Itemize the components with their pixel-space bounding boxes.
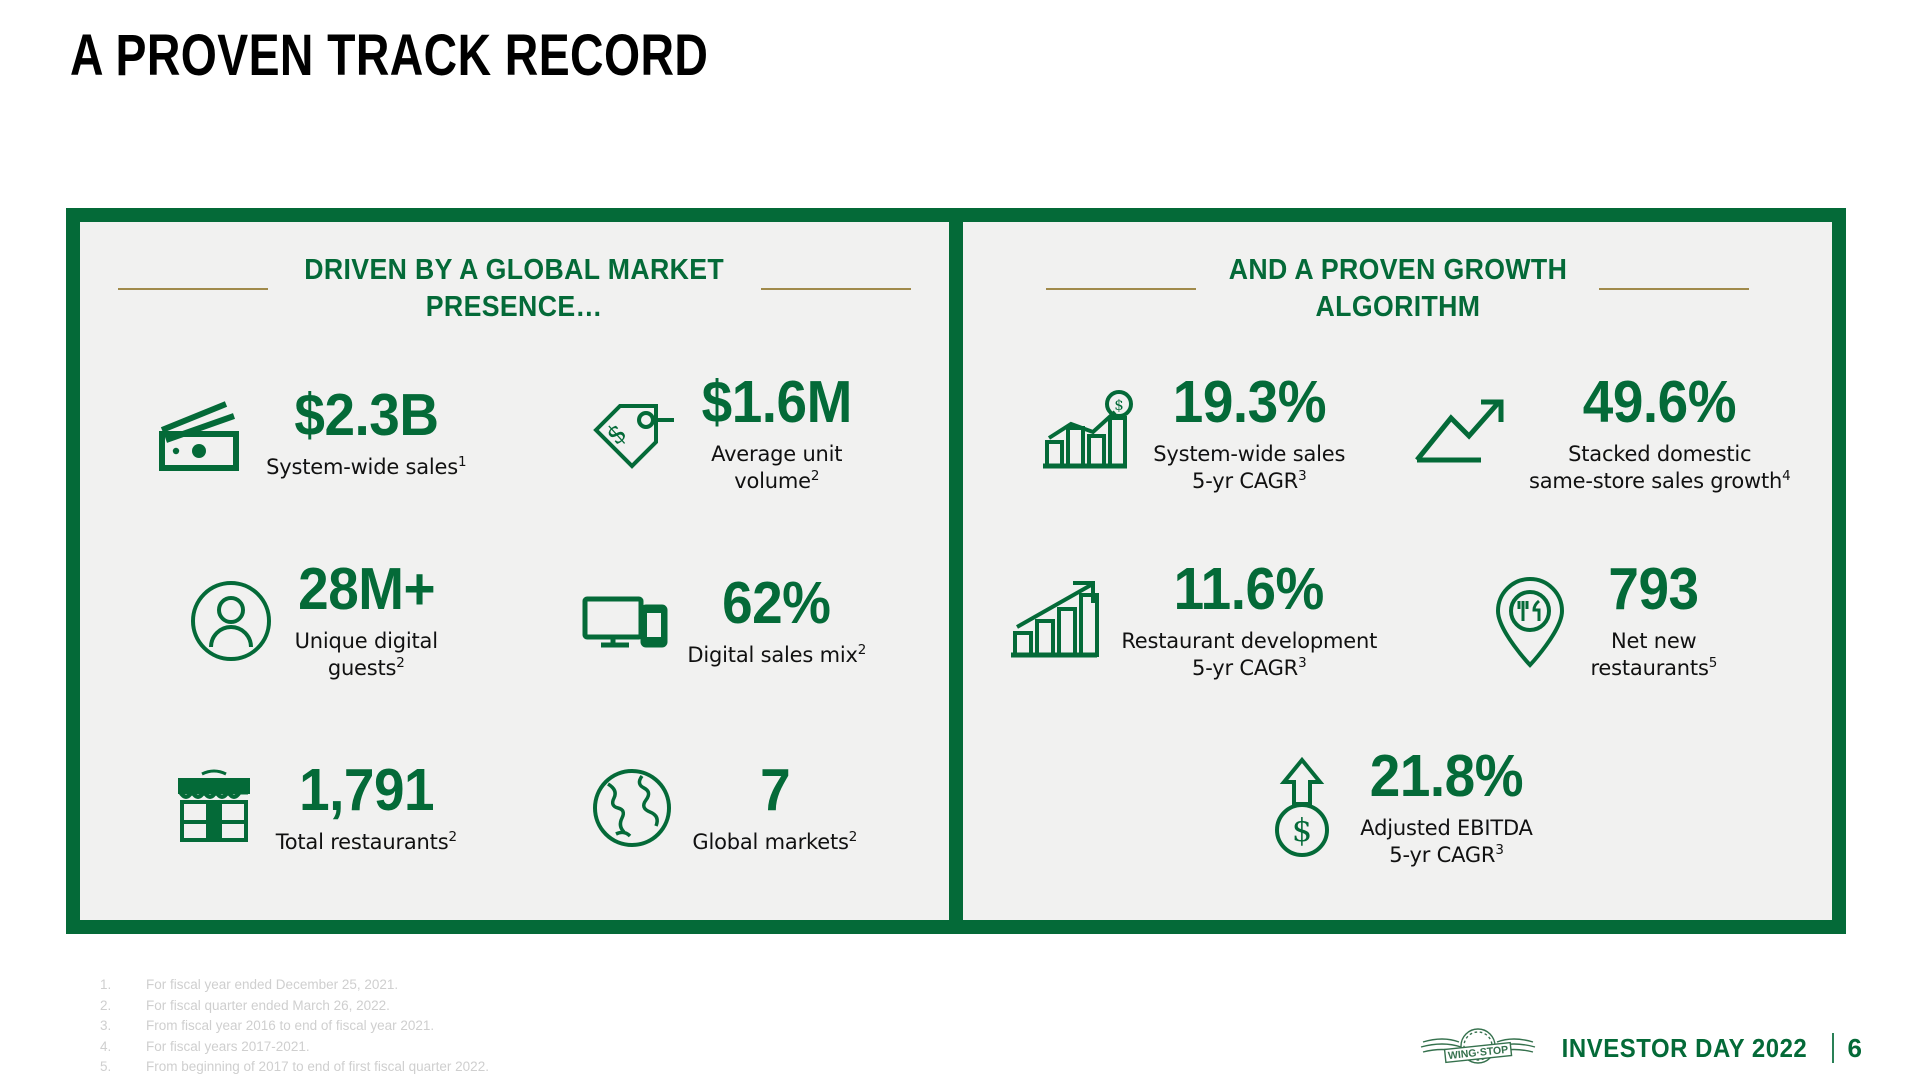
left-panel: DRIVEN BY A GLOBAL MARKET PRESENCE… (80, 222, 949, 920)
metric-label: Net new restaurants5 (1590, 628, 1717, 682)
trend-arrow-up-icon (1411, 394, 1515, 474)
metric-value: 21.8% (1370, 747, 1523, 806)
footnotes-list: 1. For fiscal year ended December 25, 20… (100, 975, 489, 1078)
metric-label: Total restaurants2 (276, 829, 457, 856)
footnote-text: For fiscal years 2017-2021. (146, 1037, 310, 1058)
metric-value: 62% (723, 574, 831, 633)
wingstop-logo-icon: WING·STOP (1419, 1022, 1537, 1074)
location-pin-food-icon (1484, 573, 1576, 669)
metric-value: $1.6M (702, 373, 852, 432)
metric: $1.6M Average unit volume2 (696, 373, 857, 495)
content-frame: DRIVEN BY A GLOBAL MARKET PRESENCE… (66, 208, 1846, 934)
right-panel-header: AND A PROVEN GROWTH ALGORITHM (963, 252, 1832, 326)
left-metrics-grid: $2.3B System-wide sales1 $ (80, 340, 949, 902)
bar-chart-growth-icon (1003, 577, 1107, 665)
metric-value: 19.3% (1173, 373, 1326, 432)
metric-label: System-wide sales1 (266, 454, 466, 481)
metric: 7 Global markets2 (692, 761, 857, 856)
gold-rule-right (761, 288, 911, 290)
footnote-item: 1. For fiscal year ended December 25, 20… (100, 975, 489, 996)
footnote-item: 2. For fiscal quarter ended March 26, 20… (100, 996, 489, 1017)
metric-label: Global markets2 (692, 829, 857, 856)
footnote-item: 5. From beginning of 2017 to end of firs… (100, 1057, 489, 1078)
footnote-number: 3. (100, 1016, 146, 1037)
devices-digital-icon (577, 581, 673, 661)
metric-value: $2.3B (294, 386, 438, 445)
right-metrics-grid: $ 19.3% System-wide sales 5-yr CAGR3 (963, 340, 1832, 902)
metric: 1,791 Total restaurants2 (276, 761, 457, 856)
metric: $2.3B System-wide sales1 (266, 386, 466, 481)
metric-label: Restaurant development 5-yr CAGR3 (1121, 628, 1377, 682)
footnote-item: 3. From fiscal year 2016 to end of fisca… (100, 1016, 489, 1037)
footnote-text: From beginning of 2017 to end of first f… (146, 1057, 489, 1078)
metric: 28M+ Unique digital guests2 (293, 560, 440, 682)
footnote-number: 2. (100, 996, 146, 1017)
svg-text:$: $ (1292, 811, 1312, 849)
metric-label: Stacked domestic same-store sales growth… (1529, 441, 1791, 495)
metric-cell: 49.6% Stacked domestic same-store sales … (1396, 340, 1807, 527)
footnote-number: 5. (100, 1057, 146, 1078)
globe-icon (586, 764, 678, 852)
gold-rule-left (1046, 288, 1196, 290)
storefront-icon (166, 766, 262, 850)
metric-cell: 11.6% Restaurant development 5-yr CAGR3 (985, 527, 1396, 714)
metric-label: Average unit volume2 (711, 441, 842, 495)
metric-value: 11.6% (1174, 560, 1324, 619)
metric: 21.8% Adjusted EBITDA 5-yr CAGR3 (1360, 747, 1532, 869)
metric-label: System-wide sales 5-yr CAGR3 (1153, 441, 1345, 495)
footnote-number: 1. (100, 975, 146, 996)
footnote-text: From fiscal year 2016 to end of fiscal y… (146, 1016, 434, 1037)
metric-value: 7 (760, 761, 790, 820)
metric-cell: $ 19.3% System-wide sales 5-yr CAGR3 (985, 340, 1396, 527)
metric: 49.6% Stacked domestic same-store sales … (1529, 373, 1791, 495)
metric-cell: 28M+ Unique digital guests2 (106, 527, 517, 714)
left-panel-header: DRIVEN BY A GLOBAL MARKET PRESENCE… (80, 252, 949, 326)
metric-label: Adjusted EBITDA 5-yr CAGR3 (1360, 815, 1532, 869)
svg-text:$: $ (1115, 396, 1125, 414)
user-profile-icon (183, 577, 279, 665)
metric: 62% Digital sales mix2 (687, 574, 866, 669)
footer-event-label: INVESTOR DAY 2022 (1561, 1033, 1807, 1064)
gold-rule-left (118, 288, 268, 290)
left-panel-title: DRIVEN BY A GLOBAL MARKET PRESENCE… (305, 252, 725, 326)
metric-cell: 7 Global markets2 (517, 715, 928, 902)
metric-value: 1,791 (299, 761, 434, 820)
footnote-number: 4. (100, 1037, 146, 1058)
metric-label: Digital sales mix2 (687, 642, 866, 669)
cash-money-icon (156, 394, 252, 474)
metric-value: 49.6% (1583, 373, 1736, 432)
metric-value: 793 (1609, 560, 1699, 619)
gold-rule-right (1599, 288, 1749, 290)
metric-value: 28M+ (298, 560, 435, 619)
footer-divider (1832, 1033, 1834, 1063)
footnote-item: 4. For fiscal years 2017-2021. (100, 1037, 489, 1058)
dollar-up-arrow-icon: $ (1258, 756, 1346, 860)
metric-cell: $ 21.8% Adjusted EBITDA 5-yr CAGR3 (985, 715, 1806, 902)
right-panel-title: AND A PROVEN GROWTH ALGORITHM (1228, 252, 1567, 326)
slide-footer: WING·STOP INVESTOR DAY 2022 6 (1419, 1022, 1862, 1074)
metric-cell: 793 Net new restaurants5 (1396, 527, 1807, 714)
metric-cell: $ $1.6M Average unit volume2 (517, 340, 928, 527)
metric-cell: 62% Digital sales mix2 (517, 527, 928, 714)
page-title: A PROVEN TRACK RECORD (70, 22, 708, 89)
price-tag-dollar-icon: $ (586, 394, 682, 474)
footnote-text: For fiscal quarter ended March 26, 2022. (146, 996, 390, 1017)
page-number: 6 (1848, 1033, 1862, 1064)
metric: 793 Net new restaurants5 (1590, 560, 1717, 682)
metric: 11.6% Restaurant development 5-yr CAGR3 (1121, 560, 1377, 682)
bar-chart-dollar-icon: $ (1035, 390, 1139, 478)
right-panel: AND A PROVEN GROWTH ALGORITHM (963, 222, 1832, 920)
metric-cell: 1,791 Total restaurants2 (106, 715, 517, 902)
metric-label: Unique digital guests2 (295, 628, 438, 682)
metric-cell: $2.3B System-wide sales1 (106, 340, 517, 527)
metric: 19.3% System-wide sales 5-yr CAGR3 (1153, 373, 1345, 495)
slide-root: A PROVEN TRACK RECORD DRIVEN BY A GLOBAL… (0, 0, 1920, 1080)
footnote-text: For fiscal year ended December 25, 2021. (146, 975, 398, 996)
